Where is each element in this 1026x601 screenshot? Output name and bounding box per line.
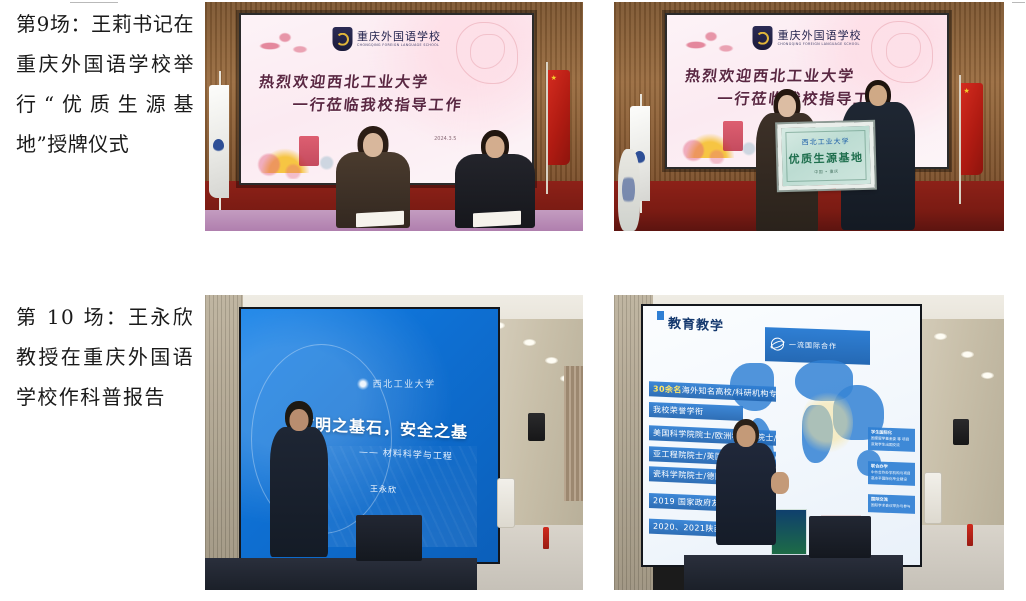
wall-speaker <box>528 413 545 441</box>
page-rule-left <box>70 2 118 3</box>
side-card-text: 中外合作办学机构与项目 高水平国际化专业建设 <box>871 470 911 481</box>
headline-line-1: 热烈欢迎西北工业大学 <box>259 73 431 91</box>
fire-extinguisher <box>543 527 549 549</box>
photo-lecture-education-slide: 教育教学 一流国际合作 30余名海外知名高校/科研机构专家受聘 <box>614 295 1004 590</box>
presenter-monitor <box>356 515 422 561</box>
bullet-text: 海外知名高校/科研机构专家受聘 <box>682 385 777 399</box>
headline-line-1: 热烈欢迎西北工业大学 <box>684 67 856 85</box>
wall-speaker <box>953 419 969 445</box>
plaque-title: 优质生源基地 <box>788 149 863 167</box>
hall-left-wall <box>205 295 243 590</box>
side-card-title: 联合办学 <box>871 463 912 471</box>
photo-lecture-title-slide: 西北工业大学 文明之基石，安全之基础 —— 材料科学与工程 王永欣 <box>205 295 583 590</box>
chinese-national-flag <box>542 62 572 195</box>
school-logo: 重庆外国语学校 CHONGQING FOREIGN LANGUAGE SCHOO… <box>332 27 441 51</box>
presenter-monitor <box>809 516 871 558</box>
award-plaque: 西北工业大学 优质生源基地 中国 • 重庆 <box>777 122 875 190</box>
air-conditioner <box>924 472 942 524</box>
headline-line-2: 一行莅临我校指导工作 <box>256 93 514 116</box>
slide-section-tag-icon <box>657 311 664 320</box>
slide-side-card-2: 国际交流 国际学术会议举办与参与 <box>868 495 915 515</box>
university-mark-icon <box>357 378 369 390</box>
school-logo: 重庆外国语学校 CHONGQING FOREIGN LANGUAGE SCHOO… <box>753 26 862 50</box>
page-rule-right <box>1012 2 1025 3</box>
screen-headline: 热烈欢迎西北工业大学 一行莅临我校指导工作 <box>256 71 517 116</box>
school-logo-en: CHONGQING FOREIGN LANGUAGE SCHOOL <box>357 43 441 47</box>
bullet-highlight: 30余名 <box>653 384 682 394</box>
slide-university-logo: 西北工业大学 <box>357 377 436 390</box>
petal-decoration-icon <box>684 28 744 62</box>
slide-side-card-1: 联合办学 中外合作办学机构与项目 高水平国际化专业建设 <box>868 461 915 486</box>
podium <box>205 558 477 590</box>
air-conditioner <box>497 478 515 528</box>
school-logo-cn: 重庆外国语学校 <box>357 31 441 43</box>
document-page: 第9场：王莉书记在重庆外国语学校举行“优质生源基地”授牌仪式 第 10 场：王永… <box>0 0 1026 601</box>
map-highlight-glow <box>802 389 854 457</box>
person-speaker <box>269 401 329 572</box>
side-card-text: 国际学术会议举办与参与 <box>871 504 911 509</box>
screen-date: 2024.3.5 <box>434 136 456 142</box>
porcelain-vase <box>618 149 640 231</box>
speaker-gesturing-hand <box>770 472 790 519</box>
slide-university-name: 西北工业大学 <box>373 377 436 390</box>
school-crest-icon <box>332 27 352 51</box>
school-logo-en: CHONGQING FOREIGN LANGUAGE SCHOOL <box>778 42 862 46</box>
caption-row-9: 第9场：王莉书记在重庆外国语学校举行“优质生源基地”授牌仪式 <box>16 4 194 164</box>
school-crest-icon <box>753 26 773 50</box>
slide-side-card-0: 学生国际化 国家留学基金委 等 项目资助学生出国交流 <box>868 427 915 452</box>
ceiling-downlight-icon <box>981 372 994 379</box>
petal-decoration-icon <box>258 29 318 63</box>
led-video-wall: 教育教学 一流国际合作 30余名海外知名高校/科研机构专家受聘 <box>641 304 922 568</box>
plaque-subtitle: 中国 • 重庆 <box>814 169 839 176</box>
ceiling-downlight-icon <box>523 339 536 346</box>
person-speaker <box>715 419 777 561</box>
school-white-flag <box>209 71 235 213</box>
photo-plaque-presentation: 重庆外国语学校 CHONGQING FOREIGN LANGUAGE SCHOO… <box>614 2 1004 231</box>
slide-section-title: 教育教学 <box>668 312 724 334</box>
plaque-university: 西北工业大学 <box>801 137 849 148</box>
window-curtain <box>564 366 583 502</box>
fire-extinguisher <box>967 524 973 546</box>
photo-signing-ceremony: 重庆外国语学校 CHONGQING FOREIGN LANGUAGE SCHOO… <box>205 2 583 231</box>
school-logo-cn: 重庆外国语学校 <box>778 30 862 42</box>
side-card-text: 国家留学基金委 等 项目资助学生出国交流 <box>871 436 909 446</box>
chinese-national-flag <box>955 75 985 203</box>
caption-row-10: 第 10 场：王永欣教授在重庆外国语学校作科普报告 <box>16 297 194 417</box>
ceiling-downlight-icon <box>545 357 558 364</box>
